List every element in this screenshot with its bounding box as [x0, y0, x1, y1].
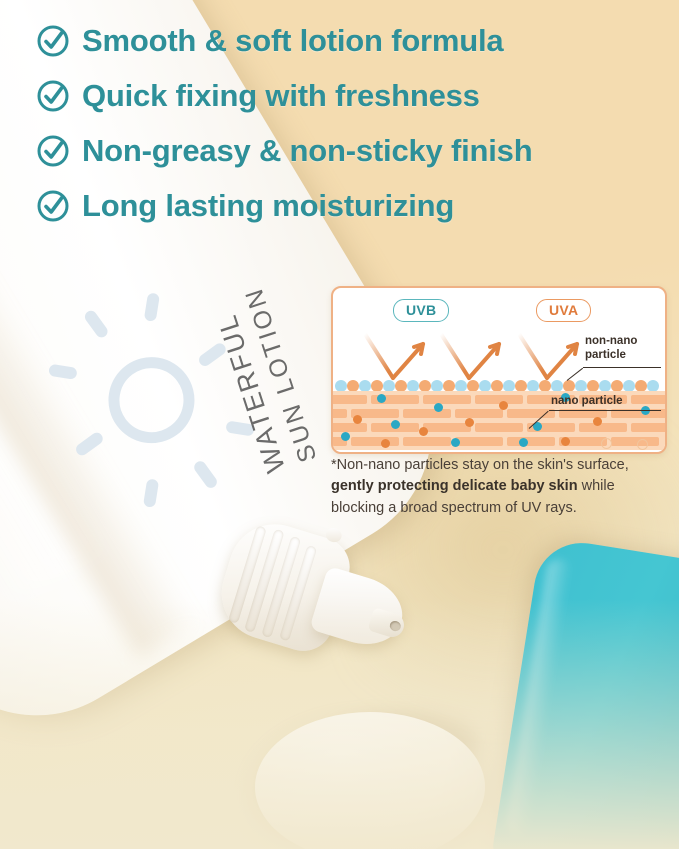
- non-nano-label-line2: particle: [585, 349, 626, 361]
- nano-particle-dot: [341, 432, 350, 441]
- sun-ray: [192, 459, 219, 490]
- diagram-caption: *Non-nano particles stay on the skin's s…: [331, 455, 671, 519]
- nano-particle-dot: [381, 439, 390, 448]
- nano-particle-dot: [419, 427, 428, 436]
- non-nano-leader-line: [583, 367, 661, 368]
- nano-particle-dot: [499, 401, 508, 410]
- product-marketing-image: WATERFUL SUN LOTION Smooth & s: [0, 0, 679, 849]
- nano-particle-dot: [353, 415, 362, 424]
- feature-item: Long lasting moisturizing: [36, 189, 666, 223]
- nano-particle-dot: [451, 438, 460, 447]
- caption-line-2-rest: while: [578, 478, 615, 494]
- caption-bold-text: gently protecting delicate baby skin: [331, 478, 578, 494]
- feature-label: Long lasting moisturizing: [82, 190, 454, 223]
- sun-icon: [91, 340, 211, 460]
- sun-ray: [74, 430, 105, 457]
- nano-particle-dot: [593, 417, 602, 426]
- nano-particle-dot: [465, 418, 474, 427]
- sun-ray: [143, 478, 159, 508]
- feature-item: Quick fixing with freshness: [36, 79, 666, 113]
- feature-item: Smooth & soft lotion formula: [36, 24, 666, 58]
- uvb-badge: UVB: [393, 299, 449, 322]
- nano-particle-dot: [561, 437, 570, 446]
- background-shade-bottom: [0, 599, 679, 849]
- nano-particle-dot: [434, 403, 443, 412]
- check-circle-icon: [36, 24, 70, 58]
- non-nano-particle-label: non-nano particle: [585, 335, 637, 362]
- feature-label: Quick fixing with freshness: [82, 80, 480, 113]
- sun-ray: [48, 364, 78, 380]
- nano-particle-dot: [519, 438, 528, 447]
- check-circle-icon: [36, 189, 70, 223]
- nano-particle-dot: [601, 438, 612, 449]
- nano-particle-dot: [377, 394, 386, 403]
- check-circle-icon: [36, 79, 70, 113]
- check-circle-icon: [36, 134, 70, 168]
- feature-label: Non-greasy & non-sticky finish: [82, 135, 532, 168]
- nano-particle-dot: [391, 420, 400, 429]
- nano-particle-label: nano particle: [551, 395, 623, 409]
- feature-item: Non-greasy & non-sticky finish: [36, 134, 666, 168]
- feature-list: Smooth & soft lotion formula Quick fixin…: [36, 24, 666, 244]
- nano-leader-line: [549, 410, 661, 411]
- uva-badge: UVA: [536, 299, 591, 322]
- sun-ray: [83, 308, 110, 339]
- caption-line-3: blocking a broad spectrum of UV rays.: [331, 498, 671, 519]
- nano-particle-dot: [637, 439, 648, 450]
- uv-skin-diagram: UVB UVA: [331, 286, 667, 454]
- caption-line-1: *Non-nano particles stay on the skin's s…: [331, 455, 671, 476]
- caption-line-2: gently protecting delicate baby skin whi…: [331, 476, 671, 497]
- non-nano-label-line1: non-nano: [585, 335, 637, 347]
- feature-label: Smooth & soft lotion formula: [82, 25, 503, 58]
- sun-ray: [144, 292, 160, 322]
